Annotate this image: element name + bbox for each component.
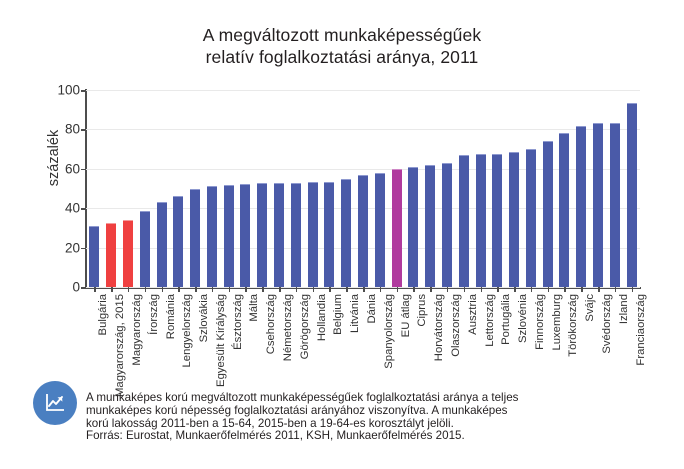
bar-slot	[573, 90, 590, 287]
footer-note: A munkaképes korú megváltozott munkaképe…	[86, 392, 646, 443]
x-tick-mark	[581, 287, 583, 292]
bar-slot	[556, 90, 573, 287]
bar-slot	[405, 90, 422, 287]
x-tick-label: Németország	[283, 294, 294, 361]
bar[interactable]	[190, 189, 200, 288]
x-tick-mark	[245, 287, 247, 292]
bar[interactable]	[627, 103, 637, 287]
x-tick-label: Románia	[166, 294, 177, 339]
x-tick-mark	[481, 287, 483, 292]
bar-slot	[388, 90, 405, 287]
bar-slot	[539, 90, 556, 287]
bar-slot	[439, 90, 456, 287]
bar-slot	[489, 90, 506, 287]
y-tick-label: 0	[72, 280, 80, 294]
x-tick-label: Franciaország	[636, 294, 647, 366]
x-tick-mark	[531, 287, 533, 292]
footer-note-line-2: munkaképes korú népesség foglalkoztatási…	[86, 405, 646, 418]
x-tick-mark	[111, 287, 113, 292]
bar-slot	[355, 90, 372, 287]
bar-slot	[237, 90, 254, 287]
bar-slot	[103, 90, 120, 287]
bar-slot	[153, 90, 170, 287]
y-tick-label: 100	[57, 83, 80, 97]
bar[interactable]	[358, 175, 368, 287]
x-tick-mark	[632, 287, 634, 292]
x-tick-label: Ciprus	[417, 294, 428, 327]
x-tick-mark	[548, 287, 550, 292]
x-tick-mark	[615, 287, 617, 292]
bar-slot	[170, 90, 187, 287]
x-tick-label: Luxemburg	[552, 294, 563, 351]
x-tick-mark	[598, 287, 600, 292]
bar[interactable]	[392, 169, 402, 287]
y-tick-mark	[81, 287, 86, 289]
bar[interactable]	[140, 211, 150, 287]
x-tick-mark	[296, 287, 298, 292]
y-tick-label: 80	[65, 123, 80, 137]
y-axis-tick-labels: 020406080100	[46, 90, 80, 287]
bar[interactable]	[559, 133, 569, 287]
chart-title-line-1: A megváltozott munkaképességűek	[0, 24, 684, 46]
bar-slot	[271, 90, 288, 287]
x-tick-label: Spanyolország	[384, 294, 395, 369]
x-tick-mark	[430, 287, 432, 292]
bar[interactable]	[459, 155, 469, 287]
x-tick-mark	[313, 287, 315, 292]
plot-area	[86, 90, 640, 287]
bar-slot	[422, 90, 439, 287]
bar[interactable]	[157, 202, 167, 287]
footer-note-line-1: A munkaképes korú megváltozott munkaképe…	[86, 392, 646, 405]
x-tick-label: Dánia	[367, 294, 378, 324]
bar-slot	[86, 90, 103, 287]
x-tick-label: Lettország	[485, 294, 496, 347]
bar-slot	[187, 90, 204, 287]
footer-source: Forrás: Eurostat, Munkaerőfelmérés 2011,…	[86, 430, 646, 443]
bar-slot	[606, 90, 623, 287]
bar[interactable]	[492, 154, 502, 287]
bar[interactable]	[173, 196, 183, 287]
x-tick-mark	[262, 287, 264, 292]
x-tick-label: Ausztria	[468, 294, 479, 335]
x-tick-mark	[514, 287, 516, 292]
x-tick-label: Észtország	[233, 294, 244, 350]
x-tick-label: Litvánia	[350, 294, 361, 333]
x-tick-label: Csehország	[266, 294, 277, 354]
bar-slot	[254, 90, 271, 287]
x-tick-label: Málta	[249, 294, 260, 322]
bar[interactable]	[224, 185, 234, 287]
y-tick-label: 40	[65, 201, 80, 215]
bar[interactable]	[408, 167, 418, 287]
bar-slot	[472, 90, 489, 287]
x-tick-label: Törökország	[568, 294, 579, 357]
bar[interactable]	[308, 182, 318, 287]
chart-title: A megváltozott munkaképességűek relatív …	[0, 24, 684, 68]
x-tick-mark	[413, 287, 415, 292]
x-tick-label: Írország	[149, 294, 160, 335]
bar[interactable]	[442, 163, 452, 287]
x-tick-label: Izland	[619, 294, 630, 324]
x-tick-mark	[329, 287, 331, 292]
bar[interactable]	[593, 123, 603, 287]
x-tick-mark	[380, 287, 382, 292]
x-tick-mark	[464, 287, 466, 292]
x-tick-mark	[397, 287, 399, 292]
bar[interactable]	[341, 179, 351, 287]
x-tick-label: Horvátország	[434, 294, 445, 361]
bar[interactable]	[526, 149, 536, 287]
x-tick-mark	[128, 287, 130, 292]
x-tick-label: Görögország	[300, 294, 311, 359]
bar[interactable]	[257, 183, 267, 287]
bar-slot	[120, 90, 137, 287]
chart-trend-up-icon	[33, 381, 77, 425]
bar[interactable]	[375, 173, 385, 287]
x-tick-mark	[212, 287, 214, 292]
bar-slot	[136, 90, 153, 287]
x-tick-mark	[447, 287, 449, 292]
x-tick-mark	[279, 287, 281, 292]
chart-title-line-2: relatív foglalkoztatási aránya, 2011	[0, 46, 684, 68]
bar-slot	[220, 90, 237, 287]
bar[interactable]	[576, 126, 586, 287]
x-tick-label: Svédország	[602, 294, 613, 354]
x-tick-label: Bulgária	[98, 294, 109, 335]
y-tick-label: 60	[65, 162, 80, 176]
bar[interactable]	[509, 152, 519, 287]
x-tick-mark	[346, 287, 348, 292]
x-tick-label: Lengyelország	[182, 294, 193, 367]
x-tick-mark	[178, 287, 180, 292]
x-tick-label: Egyesült Királyság	[216, 294, 227, 387]
x-tick-mark	[497, 287, 499, 292]
bar[interactable]	[106, 223, 116, 287]
x-tick-mark	[564, 287, 566, 292]
x-tick-label: Belgium	[333, 294, 344, 335]
bar[interactable]	[425, 165, 435, 287]
x-tick-mark	[162, 287, 164, 292]
bar-slot	[623, 90, 640, 287]
bar[interactable]	[123, 220, 133, 287]
bar-slot	[204, 90, 221, 287]
x-tick-label: Portugália	[501, 294, 512, 345]
x-tick-mark	[145, 287, 147, 292]
x-tick-label: EU átlag	[401, 294, 412, 337]
bar[interactable]	[610, 123, 620, 288]
x-tick-label: Magyarország, 2015	[115, 294, 126, 397]
bar-slot	[338, 90, 355, 287]
x-tick-label: Finnország	[535, 294, 546, 350]
bar[interactable]	[291, 183, 301, 287]
bar-slot	[506, 90, 523, 287]
bar-slot	[522, 90, 539, 287]
bar-slot	[304, 90, 321, 287]
x-tick-label: Svájc	[585, 294, 596, 322]
bar[interactable]	[274, 183, 284, 287]
x-tick-label: Hollandia	[317, 294, 328, 341]
bar-slot	[590, 90, 607, 287]
bar[interactable]	[476, 154, 486, 287]
x-tick-mark	[229, 287, 231, 292]
bar[interactable]	[240, 184, 250, 287]
x-tick-label: Szlovákia	[199, 294, 210, 342]
x-tick-label: Szlovénia	[518, 294, 529, 343]
bar[interactable]	[543, 141, 553, 287]
bar-slot	[321, 90, 338, 287]
x-tick-label: Magyarország	[132, 294, 143, 366]
x-tick-mark	[195, 287, 197, 292]
x-tick-mark	[363, 287, 365, 292]
bar-slot	[371, 90, 388, 287]
bar[interactable]	[89, 226, 99, 287]
y-tick-label: 20	[65, 241, 80, 255]
x-tick-mark	[94, 287, 96, 292]
bar-slot	[287, 90, 304, 287]
bar[interactable]	[207, 186, 217, 287]
bar[interactable]	[324, 182, 334, 287]
x-tick-label: Olaszország	[451, 294, 462, 357]
bar-slot	[455, 90, 472, 287]
